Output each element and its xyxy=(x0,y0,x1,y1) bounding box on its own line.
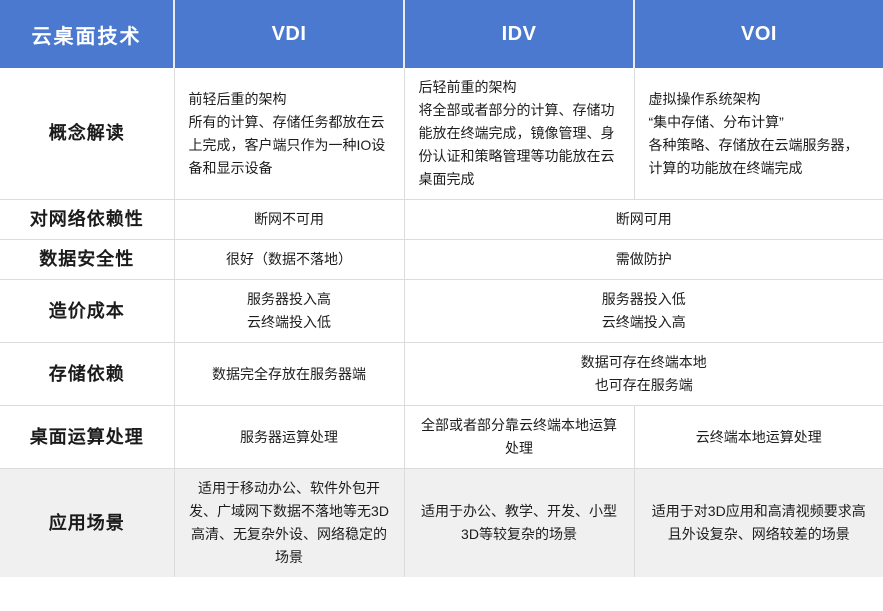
cell-voi: 云终端本地运算处理 xyxy=(634,406,883,469)
cell-idv: 全部或者部分靠云终端本地运算处理 xyxy=(404,406,634,469)
cell-text: 很好（数据不落地） xyxy=(189,248,390,271)
table-body: 概念解读前轻后重的架构 所有的计算、存储任务都放在云上完成，客户端只作为一种IO… xyxy=(0,68,883,577)
cloud-desktop-comparison-table: 云桌面技术 VDI IDV VOI 概念解读前轻后重的架构 所有的计算、存储任务… xyxy=(0,0,883,577)
header-cell-idv: IDV xyxy=(404,0,634,68)
cell-text: 云终端本地运算处理 xyxy=(649,426,870,449)
cell-idv-voi-merged: 服务器投入低 云终端投入高 xyxy=(404,280,883,343)
cell-voi: 虚拟操作系统架构 “集中存储、分布计算” 各种策略、存储放在云端服务器，计算的功… xyxy=(634,68,883,200)
row-label-cell: 存储依赖 xyxy=(0,343,174,406)
comparison-table-page: 云桌面技术 VDI IDV VOI 概念解读前轻后重的架构 所有的计算、存储任务… xyxy=(0,0,883,611)
header-cell-vdi: VDI xyxy=(174,0,404,68)
row-label-cell: 造价成本 xyxy=(0,280,174,343)
header-row: 云桌面技术 VDI IDV VOI xyxy=(0,0,883,68)
cell-text: 前轻后重的架构 所有的计算、存储任务都放在云上完成，客户端只作为一种IO设备和显… xyxy=(189,88,390,180)
cell-voi: 适用于对3D应用和高清视频要求高且外设复杂、网络较差的场景 xyxy=(634,469,883,578)
cell-vdi: 前轻后重的架构 所有的计算、存储任务都放在云上完成，客户端只作为一种IO设备和显… xyxy=(174,68,404,200)
cell-vdi: 很好（数据不落地） xyxy=(174,240,404,280)
table-row: 对网络依赖性断网不可用断网可用 xyxy=(0,200,883,240)
header-cell-voi: VOI xyxy=(634,0,883,68)
row-label-cell: 桌面运算处理 xyxy=(0,406,174,469)
cell-vdi: 适用于移动办公、软件外包开发、广域网下数据不落地等无3D高清、无复杂外设、网络稳… xyxy=(174,469,404,578)
cell-idv-voi-merged: 需做防护 xyxy=(404,240,883,280)
cell-vdi: 服务器运算处理 xyxy=(174,406,404,469)
cell-text: 数据完全存放在服务器端 xyxy=(189,363,390,386)
table-row: 存储依赖数据完全存放在服务器端数据可存在终端本地 也可存在服务端 xyxy=(0,343,883,406)
cell-text: 全部或者部分靠云终端本地运算处理 xyxy=(419,414,620,460)
cell-idv-voi-merged: 数据可存在终端本地 也可存在服务端 xyxy=(404,343,883,406)
cell-text: 适用于办公、教学、开发、小型3D等较复杂的场景 xyxy=(419,500,620,546)
cell-text: 后轻前重的架构 将全部或者部分的计算、存储功能放在终端完成，镜像管理、身份认证和… xyxy=(419,76,620,191)
cell-text: 适用于对3D应用和高清视频要求高且外设复杂、网络较差的场景 xyxy=(649,500,870,546)
cell-text: 断网不可用 xyxy=(189,208,390,231)
cell-text: 需做防护 xyxy=(419,248,870,271)
cell-text: 适用于移动办公、软件外包开发、广域网下数据不落地等无3D高清、无复杂外设、网络稳… xyxy=(189,477,390,569)
table-row: 造价成本服务器投入高 云终端投入低服务器投入低 云终端投入高 xyxy=(0,280,883,343)
cell-vdi: 数据完全存放在服务器端 xyxy=(174,343,404,406)
table-row: 应用场景适用于移动办公、软件外包开发、广域网下数据不落地等无3D高清、无复杂外设… xyxy=(0,469,883,578)
row-label-cell: 数据安全性 xyxy=(0,240,174,280)
cell-vdi: 断网不可用 xyxy=(174,200,404,240)
table-row: 数据安全性很好（数据不落地）需做防护 xyxy=(0,240,883,280)
cell-text: 数据可存在终端本地 也可存在服务端 xyxy=(419,351,870,397)
table-header: 云桌面技术 VDI IDV VOI xyxy=(0,0,883,68)
cell-idv: 后轻前重的架构 将全部或者部分的计算、存储功能放在终端完成，镜像管理、身份认证和… xyxy=(404,68,634,200)
cell-idv: 适用于办公、教学、开发、小型3D等较复杂的场景 xyxy=(404,469,634,578)
cell-idv-voi-merged: 断网可用 xyxy=(404,200,883,240)
row-label-cell: 应用场景 xyxy=(0,469,174,578)
table-row: 桌面运算处理服务器运算处理全部或者部分靠云终端本地运算处理云终端本地运算处理 xyxy=(0,406,883,469)
cell-text: 服务器运算处理 xyxy=(189,426,390,449)
header-cell-category: 云桌面技术 xyxy=(0,0,174,68)
cell-text: 虚拟操作系统架构 “集中存储、分布计算” 各种策略、存储放在云端服务器，计算的功… xyxy=(649,88,870,180)
row-label-cell: 对网络依赖性 xyxy=(0,200,174,240)
cell-vdi: 服务器投入高 云终端投入低 xyxy=(174,280,404,343)
cell-text: 断网可用 xyxy=(419,208,870,231)
cell-text: 服务器投入高 云终端投入低 xyxy=(189,288,390,334)
table-row: 概念解读前轻后重的架构 所有的计算、存储任务都放在云上完成，客户端只作为一种IO… xyxy=(0,68,883,200)
cell-text: 服务器投入低 云终端投入高 xyxy=(419,288,870,334)
row-label-cell: 概念解读 xyxy=(0,68,174,200)
